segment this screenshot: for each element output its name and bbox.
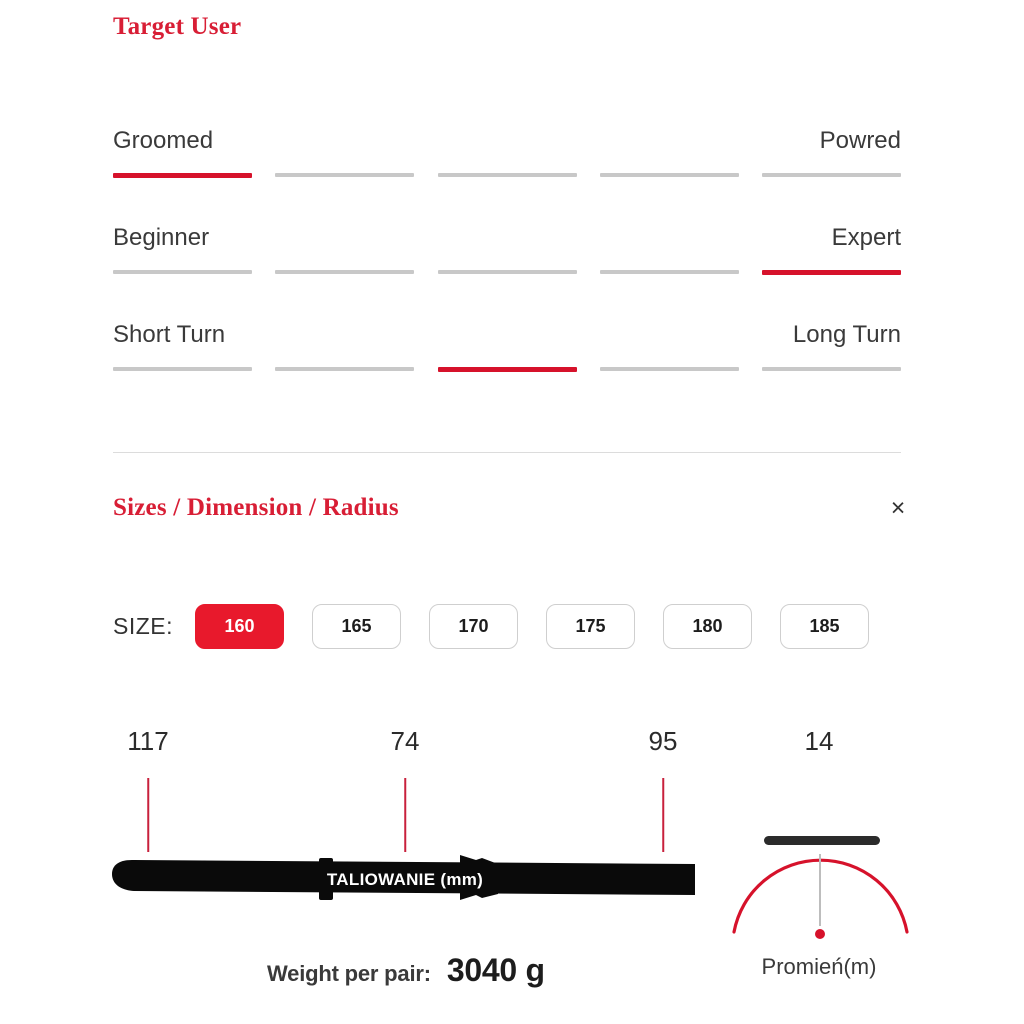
sizes-dimension-radius-title: Sizes / Dimension / Radius bbox=[113, 494, 399, 522]
rating-left-label: Groomed bbox=[113, 124, 213, 158]
dimension-label-tail: 95 bbox=[649, 726, 678, 757]
size-option-165[interactable]: 165 bbox=[312, 604, 401, 649]
rating-segment[interactable] bbox=[113, 270, 252, 274]
rating-segment[interactable] bbox=[113, 367, 252, 371]
rating-segment[interactable] bbox=[275, 367, 414, 371]
size-label: SIZE: bbox=[113, 613, 173, 640]
rating-segment[interactable] bbox=[275, 173, 414, 177]
rating-row-labels: Short Turn Long Turn bbox=[113, 318, 901, 352]
radius-arc-icon bbox=[722, 804, 922, 944]
rating-row-labels: Groomed Powred bbox=[113, 124, 901, 158]
rating-segment[interactable] bbox=[600, 173, 739, 177]
rating-segment[interactable] bbox=[600, 367, 739, 371]
rating-segment[interactable] bbox=[438, 367, 577, 372]
product-spec-panel: Target User Groomed Powred Beginner Expe… bbox=[0, 0, 1024, 1024]
ski-sidecut-diagram: 117 74 95 TALIOWANIE (mm) bbox=[110, 726, 710, 906]
turn-radius-diagram: 14 Promień(m) bbox=[722, 726, 922, 986]
target-user-title: Target User bbox=[113, 13, 241, 41]
dimension-leader-line bbox=[147, 778, 149, 852]
rating-row-labels: Beginner Expert bbox=[113, 221, 901, 255]
rating-left-label: Beginner bbox=[113, 221, 209, 255]
size-option-175[interactable]: 175 bbox=[546, 604, 635, 649]
target-user-ratings: Groomed Powred Beginner Expert bbox=[113, 124, 901, 415]
size-option-170[interactable]: 170 bbox=[429, 604, 518, 649]
size-option-185[interactable]: 185 bbox=[780, 604, 869, 649]
rating-right-label: Powred bbox=[820, 124, 901, 158]
dimension-leader-line bbox=[404, 778, 406, 852]
rating-segment[interactable] bbox=[113, 173, 252, 178]
dimension-label-waist: 74 bbox=[391, 726, 420, 757]
weight-value: 3040 g bbox=[447, 952, 545, 989]
weight-label: Weight per pair: bbox=[267, 961, 431, 987]
radius-value-label: 14 bbox=[805, 726, 834, 757]
sidecut-caption: TALIOWANIE (mm) bbox=[327, 870, 483, 890]
rating-segment[interactable] bbox=[438, 173, 577, 177]
rating-right-label: Expert bbox=[832, 221, 901, 255]
rating-right-label: Long Turn bbox=[793, 318, 901, 352]
rating-left-label: Short Turn bbox=[113, 318, 225, 352]
rating-track[interactable] bbox=[113, 270, 901, 275]
rating-row: Groomed Powred bbox=[113, 124, 901, 221]
weight-per-pair: Weight per pair: 3040 g bbox=[267, 952, 545, 989]
rating-segment[interactable] bbox=[762, 173, 901, 177]
rating-row: Beginner Expert bbox=[113, 221, 901, 318]
dimension-leader-line bbox=[662, 778, 664, 852]
rating-row: Short Turn Long Turn bbox=[113, 318, 901, 415]
rating-segment[interactable] bbox=[762, 270, 901, 275]
dimension-label-tip: 117 bbox=[127, 726, 168, 757]
size-option-160[interactable]: 160 bbox=[195, 604, 284, 649]
rating-track[interactable] bbox=[113, 173, 901, 178]
rating-track[interactable] bbox=[113, 367, 901, 372]
size-option-180[interactable]: 180 bbox=[663, 604, 752, 649]
section-divider bbox=[113, 452, 901, 453]
radius-caption: Promień(m) bbox=[762, 954, 877, 980]
rating-segment[interactable] bbox=[762, 367, 901, 371]
size-selector: SIZE: 160 165 170 175 180 185 bbox=[113, 604, 869, 649]
rating-segment[interactable] bbox=[600, 270, 739, 274]
rating-segment[interactable] bbox=[275, 270, 414, 274]
rating-segment[interactable] bbox=[438, 270, 577, 274]
close-icon[interactable]: × bbox=[885, 495, 911, 521]
